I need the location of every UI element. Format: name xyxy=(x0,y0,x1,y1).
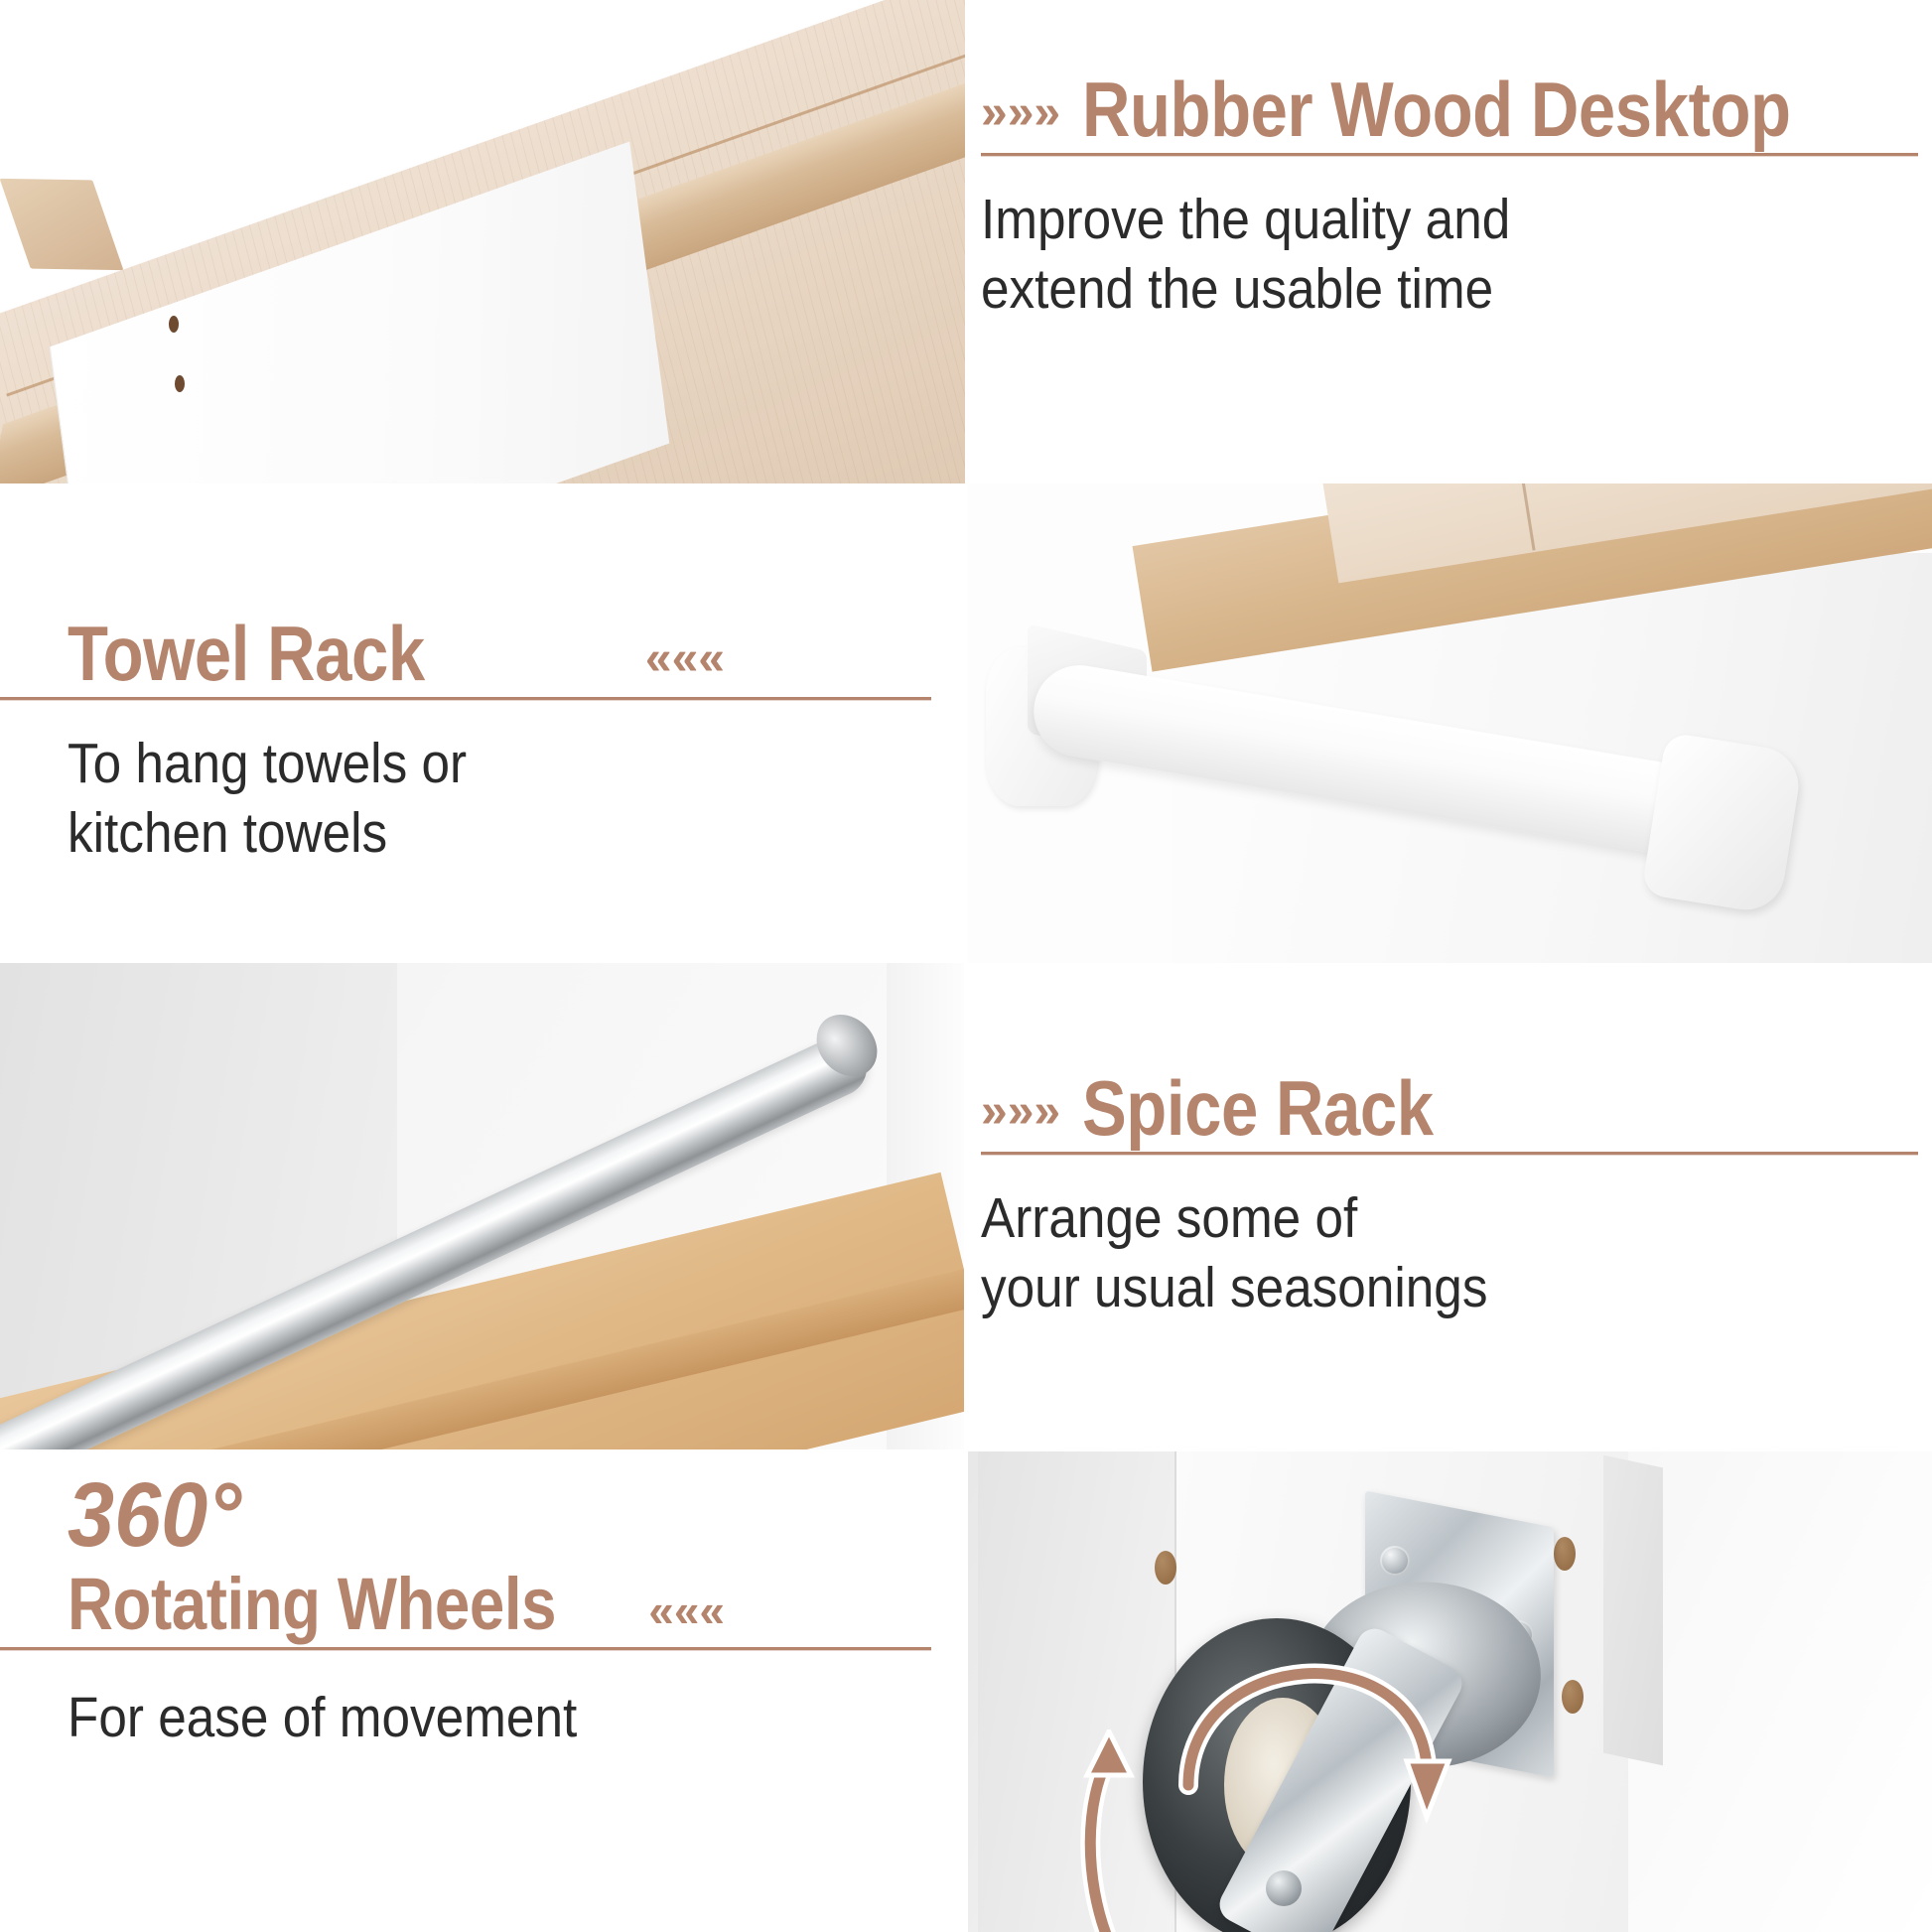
feature-eyebrow-360-degrees: 360° xyxy=(68,1469,241,1561)
feature-description: For ease of movement xyxy=(68,1684,820,1753)
title-underline-rule xyxy=(0,1647,931,1650)
feature-title: Spice Rack xyxy=(1082,1070,1434,1146)
chevron-left-icon: ««« xyxy=(648,1587,725,1633)
feature-block-spice-rack: »»» Spice Rack Arrange some of your usua… xyxy=(981,1070,1918,1323)
wood-dowel-plug xyxy=(1562,1680,1584,1714)
feature-title: Rubber Wood Desktop xyxy=(1082,71,1791,147)
cabinet-panel-side xyxy=(1603,1455,1663,1766)
feature-description: Improve the quality and extend the usabl… xyxy=(981,186,1825,324)
shelf-pin-hole xyxy=(175,375,185,392)
chevron-right-icon: »»» xyxy=(981,89,1060,137)
caster-axle-bolt xyxy=(1266,1870,1302,1906)
chevron-right-icon: »»» xyxy=(981,1088,1060,1136)
caster-wheel-photo: 360° 360° xyxy=(968,1451,1932,1932)
shelf-pin-hole xyxy=(169,316,179,333)
title-underline-rule xyxy=(981,153,1918,156)
mounting-screw xyxy=(1380,1546,1410,1576)
feature-title-row: Towel Rack ««« xyxy=(68,616,903,691)
feature-block-rotating-wheels: 360° Rotating Wheels ««« For ease of mov… xyxy=(68,1469,903,1752)
rotation-arrow-vertical-icon xyxy=(1079,1729,1139,1932)
chevron-left-icon: ««« xyxy=(645,635,725,683)
cabinet-post-left xyxy=(978,1451,1176,1932)
rubber-wood-desktop-photo xyxy=(0,0,965,483)
title-underline-rule xyxy=(981,1152,1918,1155)
wood-dowel-plug xyxy=(1554,1537,1576,1571)
feature-description: To hang towels or kitchen towels xyxy=(68,730,820,868)
feature-title-row: »»» Rubber Wood Desktop xyxy=(981,71,1918,147)
infographic-sheet: »»» Rubber Wood Desktop Improve the qual… xyxy=(0,0,1932,1932)
title-underline-rule xyxy=(0,697,931,700)
spice-rack-photo xyxy=(0,963,964,1449)
feature-description: Arrange some of your usual seasonings xyxy=(981,1184,1825,1322)
feature-block-towel-rack: Towel Rack ««« To hang towels or kitchen… xyxy=(68,616,903,869)
wood-board-side xyxy=(0,179,123,270)
feature-title-row: »»» Spice Rack xyxy=(981,1070,1918,1146)
feature-block-rubber-wood-desktop: »»» Rubber Wood Desktop Improve the qual… xyxy=(981,71,1918,325)
towel-bar-end-cap xyxy=(1641,732,1804,915)
towel-rack-photo xyxy=(968,483,1932,963)
feature-title: Rotating Wheels xyxy=(68,1569,556,1641)
rotation-arrow-horizontal-icon xyxy=(1167,1590,1484,1849)
feature-title: Towel Rack xyxy=(68,616,425,691)
feature-title-row: Rotating Wheels ««« xyxy=(68,1569,903,1641)
wood-dowel-plug xyxy=(1155,1551,1176,1585)
